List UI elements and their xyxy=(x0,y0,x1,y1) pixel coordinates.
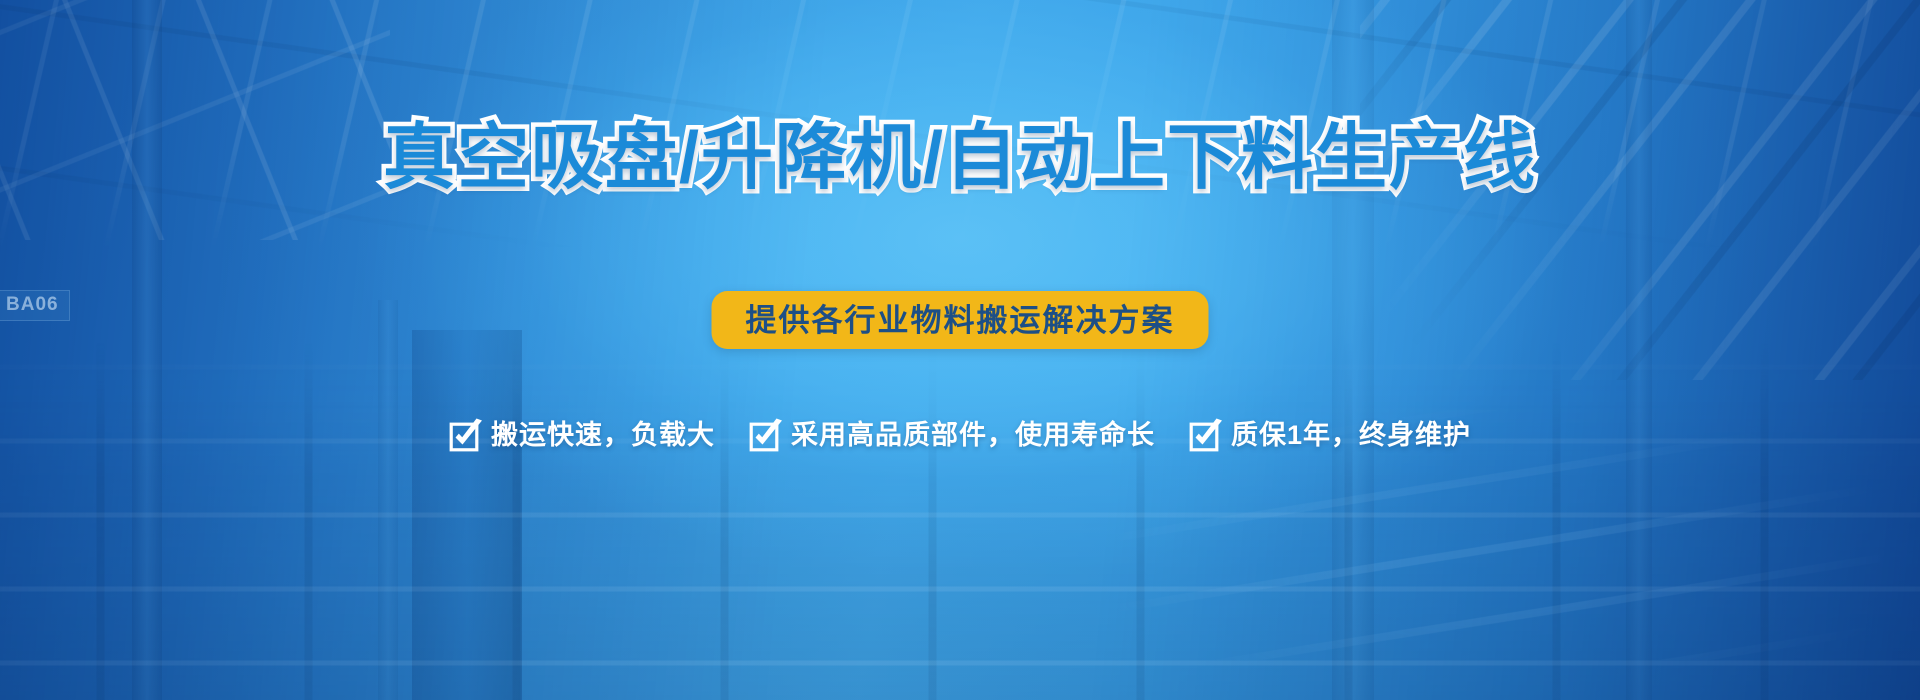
checkbox-check-icon xyxy=(749,418,783,452)
banner-headline: 真空吸盘/升降机/自动上下料生产线 xyxy=(0,122,1920,194)
tagline-text: 提供各行业物料搬运解决方案 xyxy=(746,305,1175,336)
checkbox-check-icon xyxy=(449,418,483,452)
feature-item: 搬运快速，负载大 xyxy=(449,418,715,452)
feature-label: 质保1年，终身维护 xyxy=(1231,422,1471,449)
promo-banner: BA06 真空吸盘/升降机/自动上下料生产线 提供各行业物料搬运解决方案 搬运快… xyxy=(0,0,1920,700)
checkbox-check-icon xyxy=(1189,418,1223,452)
feature-label: 搬运快速，负载大 xyxy=(491,422,715,449)
feature-list: 搬运快速，负载大 采用高品质部件，使用寿命长 xyxy=(0,418,1920,452)
feature-label: 采用高品质部件，使用寿命长 xyxy=(791,422,1155,449)
feature-item: 采用高品质部件，使用寿命长 xyxy=(749,418,1155,452)
tagline-pill: 提供各行业物料搬运解决方案 xyxy=(712,291,1209,349)
banner-content: 真空吸盘/升降机/自动上下料生产线 提供各行业物料搬运解决方案 搬运快速，负载大 xyxy=(0,0,1920,700)
feature-item: 质保1年，终身维护 xyxy=(1189,418,1471,452)
